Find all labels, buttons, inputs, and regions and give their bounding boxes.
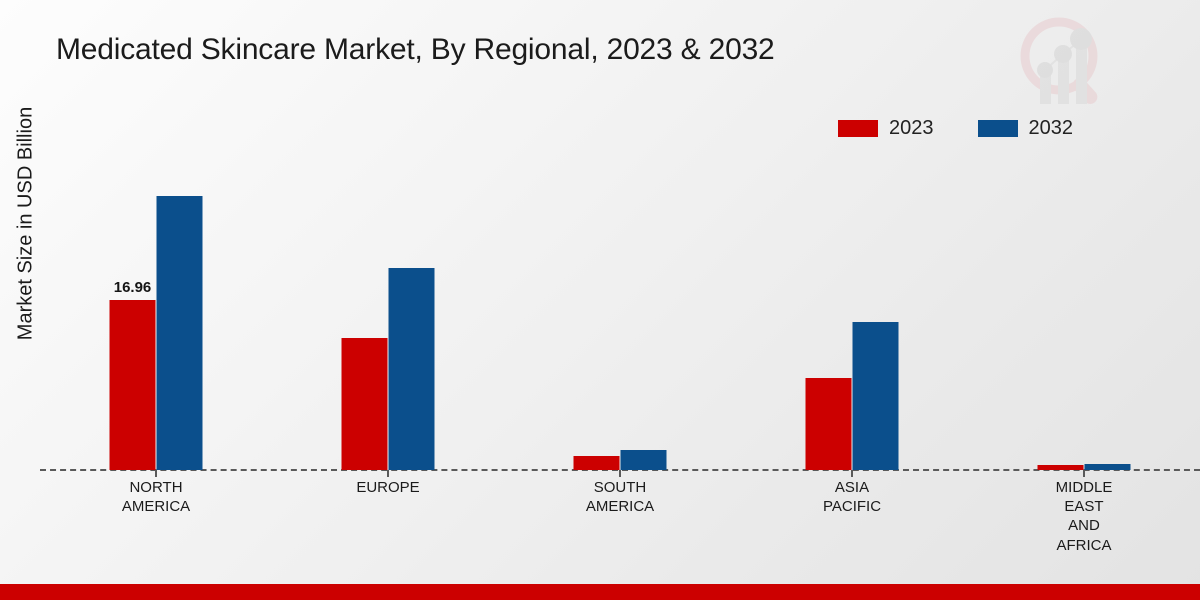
bar-groups: 16.96NORTHAMERICAEUROPESOUTHAMERICAASIAP… xyxy=(40,170,1200,470)
bar-2032[interactable] xyxy=(157,196,203,470)
bar-pair xyxy=(1038,170,1131,470)
axis-tick xyxy=(155,470,157,477)
bar-2023[interactable] xyxy=(342,338,388,470)
watermark-logo-icon xyxy=(1012,8,1122,113)
plot-area: 16.96NORTHAMERICAEUROPESOUTHAMERICAASIAP… xyxy=(40,170,1200,470)
axis-tick xyxy=(1083,470,1085,477)
axis-tick xyxy=(851,470,853,477)
bar-2032[interactable] xyxy=(621,450,667,471)
bar-2032[interactable] xyxy=(853,322,899,470)
legend-item-2023[interactable]: 2023 xyxy=(838,118,934,138)
axis-tick xyxy=(619,470,621,477)
category-label: NORTHAMERICA xyxy=(122,478,190,516)
page-title: Medicated Skincare Market, By Regional, … xyxy=(56,33,775,67)
chart-page: Medicated Skincare Market, By Regional, … xyxy=(0,0,1200,600)
bar-2032[interactable] xyxy=(1085,464,1131,471)
bar-group: MIDDLEEASTANDAFRICA xyxy=(968,170,1200,470)
bar-2023[interactable] xyxy=(806,378,852,470)
bar-value-label: 16.96 xyxy=(114,279,152,296)
bar-2023[interactable] xyxy=(1038,465,1084,470)
bar-pair xyxy=(574,170,667,470)
chart-legend: 2023 2032 xyxy=(838,118,1073,138)
legend-item-2032[interactable]: 2032 xyxy=(978,118,1074,138)
legend-label-2023: 2023 xyxy=(889,118,934,138)
bar-2023[interactable]: 16.96 xyxy=(110,300,156,470)
bar-group: ASIAPACIFIC xyxy=(736,170,968,470)
bar-2023[interactable] xyxy=(574,456,620,470)
bar-group: SOUTHAMERICA xyxy=(504,170,736,470)
legend-swatch-2032 xyxy=(978,120,1018,137)
y-axis-title: Market Size in USD Billion xyxy=(15,59,38,389)
bar-pair: 16.96 xyxy=(110,170,203,470)
legend-swatch-2023 xyxy=(838,120,878,137)
category-label: MIDDLEEASTANDAFRICA xyxy=(1056,478,1113,555)
category-label: SOUTHAMERICA xyxy=(586,478,654,516)
bar-pair xyxy=(806,170,899,470)
bar-group: EUROPE xyxy=(272,170,504,470)
legend-label-2032: 2032 xyxy=(1029,118,1074,138)
bar-group: 16.96NORTHAMERICA xyxy=(40,170,272,470)
axis-tick xyxy=(387,470,389,477)
category-label: ASIAPACIFIC xyxy=(823,478,881,516)
bar-2032[interactable] xyxy=(389,268,435,470)
category-label: EUROPE xyxy=(356,478,419,497)
bar-pair xyxy=(342,170,435,470)
footer-accent-bar xyxy=(0,584,1200,600)
